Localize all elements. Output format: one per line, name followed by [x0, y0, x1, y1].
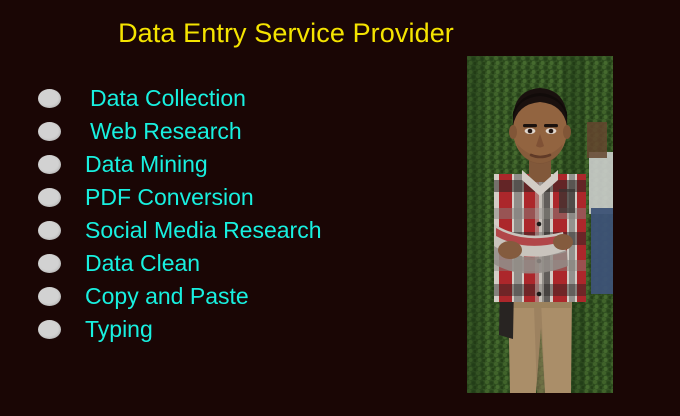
list-item: Social Media Research — [38, 214, 322, 247]
list-item-label: Data Clean — [85, 252, 200, 275]
portrait-photo-graphic — [467, 56, 613, 393]
list-item-label: Web Research — [90, 120, 242, 143]
ellipse-bullet-icon — [38, 221, 61, 240]
list-item: Data Clean — [38, 247, 322, 280]
ellipse-bullet-icon — [38, 155, 61, 174]
list-item: Data Mining — [38, 148, 322, 181]
list-item: Typing — [38, 313, 322, 346]
list-item-label: Typing — [85, 318, 153, 341]
list-item-label: Data Collection — [90, 87, 246, 110]
service-list: Data Collection Web Research Data Mining… — [38, 82, 322, 346]
list-item: Data Collection — [38, 82, 322, 115]
ellipse-bullet-icon — [38, 188, 61, 207]
portrait-photo — [467, 56, 613, 393]
ellipse-bullet-icon — [38, 320, 61, 339]
list-item: Web Research — [38, 115, 322, 148]
ellipse-bullet-icon — [38, 122, 61, 141]
list-item-label: Data Mining — [85, 153, 208, 176]
list-item: Copy and Paste — [38, 280, 322, 313]
list-item-label: Social Media Research — [85, 219, 322, 242]
ellipse-bullet-icon — [38, 254, 61, 273]
page-title: Data Entry Service Provider — [0, 18, 572, 49]
list-item-label: Copy and Paste — [85, 285, 249, 308]
slide-canvas: Data Entry Service Provider Data Collect… — [0, 0, 680, 416]
ellipse-bullet-icon — [38, 89, 61, 108]
ellipse-bullet-icon — [38, 287, 61, 306]
list-item-label: PDF Conversion — [85, 186, 254, 209]
list-item: PDF Conversion — [38, 181, 322, 214]
